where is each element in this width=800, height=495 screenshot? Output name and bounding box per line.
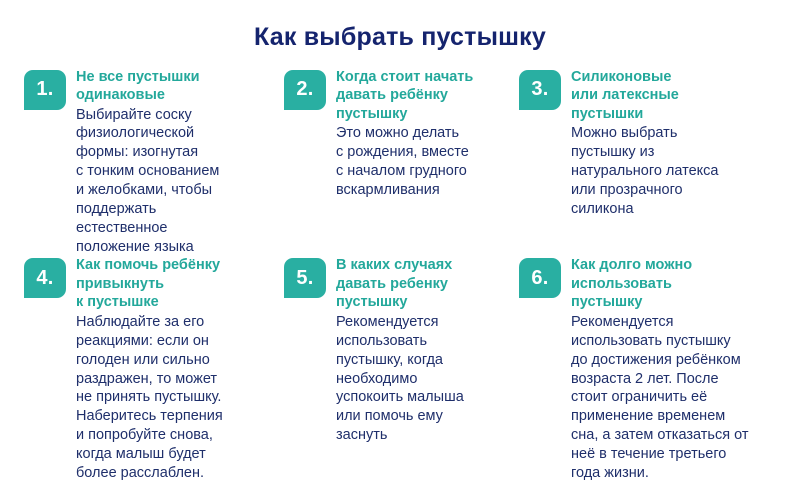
card-content-4: Как помочь ребёнку привыкнуть к пустышке…	[76, 256, 284, 482]
card-number-badge-2: 2.	[284, 70, 326, 110]
page-title: Как выбрать пустышку	[0, 0, 800, 52]
card-number-badge-5: 5.	[284, 258, 326, 298]
card-heading-4: Как помочь ребёнку привыкнуть к пустышке	[76, 256, 284, 312]
card-item-6: 6. Как долго можно использовать пустышку…	[519, 256, 794, 482]
card-text-1: Выбирайте соску физиологической формы: и…	[76, 106, 284, 257]
card-content-1: Не все пустышки одинаковые Выбирайте сос…	[76, 68, 284, 257]
card-heading-5: В каких случаях давать ребенку пустышку	[336, 256, 519, 312]
card-text-2: Это можно делать с рождения, вместе с на…	[336, 124, 519, 199]
card-item-5: 5. В каких случаях давать ребенку пустыш…	[284, 256, 519, 482]
card-number-badge-6: 6.	[519, 258, 561, 298]
infographic-root: Как выбрать пустышку 1. Не все пустышки …	[0, 0, 800, 495]
card-content-3: Силиконовые или латексные пустышки Можно…	[571, 68, 794, 219]
card-number-badge-4: 4.	[24, 258, 66, 298]
card-content-2: Когда стоит начать давать ребёнку пустыш…	[336, 68, 519, 200]
card-text-5: Рекомендуется использовать пустышку, ког…	[336, 313, 519, 445]
card-heading-3: Силиконовые или латексные пустышки	[571, 68, 794, 124]
card-number-badge-1: 1.	[24, 70, 66, 110]
card-heading-2: Когда стоит начать давать ребёнку пустыш…	[336, 68, 519, 124]
card-item-2: 2. Когда стоит начать давать ребёнку пус…	[284, 68, 519, 257]
card-text-3: Можно выбрать пустышку из натурального л…	[571, 124, 794, 218]
cards-grid: 1. Не все пустышки одинаковые Выбирайте …	[0, 52, 800, 483]
card-heading-6: Как долго можно использовать пустышку	[571, 256, 794, 312]
card-number-badge-3: 3.	[519, 70, 561, 110]
card-heading-1: Не все пустышки одинаковые	[76, 68, 284, 105]
card-text-4: Наблюдайте за его реакциями: если он гол…	[76, 313, 284, 483]
card-item-1: 1. Не все пустышки одинаковые Выбирайте …	[24, 68, 284, 257]
card-text-6: Рекомендуется использовать пустышку до д…	[571, 313, 794, 483]
card-content-5: В каких случаях давать ребенку пустышку …	[336, 256, 519, 445]
card-content-6: Как долго можно использовать пустышку Ре…	[571, 256, 794, 482]
card-item-4: 4. Как помочь ребёнку привыкнуть к пусты…	[24, 256, 284, 482]
card-item-3: 3. Силиконовые или латексные пустышки Мо…	[519, 68, 794, 257]
